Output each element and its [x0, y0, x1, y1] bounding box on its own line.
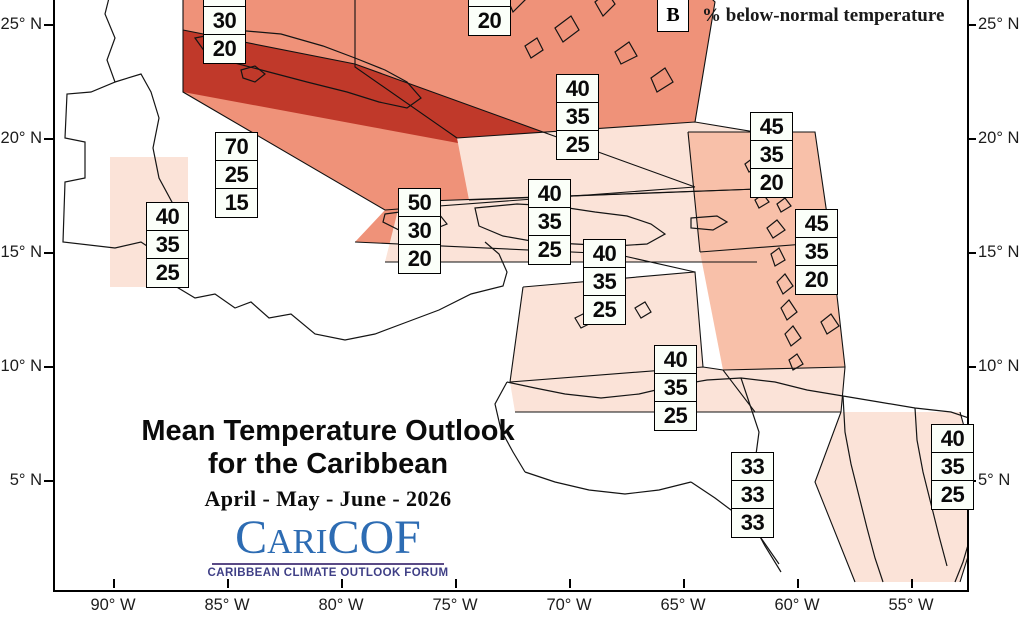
ylabel-right-15n: 15° N	[978, 243, 1019, 262]
ylabel-5n: 5° N	[0, 471, 42, 490]
xlabel-60w: 60° W	[747, 596, 847, 615]
box-belize-yucatan-normal: 35	[147, 231, 188, 259]
map-title-line2: for the Caribbean	[118, 448, 538, 481]
xtick-70w	[569, 579, 571, 588]
box-trinidad-venezuela-below: 33	[732, 509, 773, 537]
box-leeward-islands-normal: 35	[751, 141, 792, 169]
box-bahamas-turks-below: 25	[557, 131, 598, 159]
box-guyana-suriname-normal: 35	[932, 453, 973, 481]
box-southwest-caribbean: 40 35 25	[583, 239, 626, 325]
box-western-cuba-below: 15	[216, 189, 257, 217]
xlabel-90w: 90° W	[63, 596, 163, 615]
box-hispaniola-above: 40	[529, 180, 570, 208]
box-trinidad-venezuela: 33 33 33	[731, 452, 774, 538]
box-northwest-gulf-above: 50	[204, 0, 245, 7]
box-belize-yucatan: 40 35 25	[146, 202, 189, 288]
ylabel-right-5n: 5° N	[978, 471, 1010, 490]
xtick-90w	[113, 579, 115, 588]
box-hispaniola: 40 35 25	[528, 179, 571, 265]
xtick-55w	[911, 579, 913, 588]
xtick-85w	[227, 579, 229, 588]
box-bahamas-turks-normal: 35	[557, 103, 598, 131]
outlook-map-page: 25° N 20° N 15° N 10° N 5° N 25° N 20° N…	[0, 0, 1036, 630]
xtick-65w	[683, 579, 685, 588]
xlabel-55w: 55° W	[861, 596, 961, 615]
ylabel-10n: 10° N	[0, 357, 42, 376]
logo-subtitle: CARIBBEAN CLIMATE OUTLOOK FORUM	[118, 567, 538, 579]
title-block: Mean Temperature Outlook for the Caribbe…	[118, 415, 538, 579]
box-guyana-suriname-below: 25	[932, 481, 973, 509]
box-southwest-caribbean-normal: 35	[584, 268, 625, 296]
ytick-right-10n	[967, 366, 976, 368]
box-windward-islands: 45 35 20	[795, 209, 838, 295]
box-bahamas-turks: 40 35 25	[556, 74, 599, 160]
logo-letters-ari: ARI	[267, 522, 327, 561]
caricof-logo: CARICOF CARIBBEAN CLIMATE OUTLOOK FORUM	[118, 514, 538, 580]
box-leeward-islands-above: 45	[751, 113, 792, 141]
caricof-wordmark: CARICOF	[118, 514, 538, 562]
box-panama-colombia-below: 25	[655, 402, 696, 430]
box-jamaica-cayman-below: 20	[399, 245, 440, 273]
box-guyana-suriname: 40 35 25	[931, 424, 974, 510]
xlabel-80w: 80° W	[291, 596, 391, 615]
xtick-75w	[455, 579, 457, 588]
ytick-15n	[44, 252, 53, 254]
ytick-25n	[44, 24, 53, 26]
ylabel-20n: 20° N	[0, 129, 42, 148]
box-northwest-gulf: 50 30 20	[203, 0, 246, 64]
box-jamaica-cayman-above: 50	[399, 189, 440, 217]
box-hispaniola-below: 25	[529, 236, 570, 264]
xtick-80w	[341, 579, 343, 588]
ylabel-right-20n: 20° N	[978, 129, 1019, 148]
box-northwest-gulf-normal: 30	[204, 7, 245, 35]
box-bahamas-north: 30 20	[468, 0, 511, 36]
ylabel-15n: 15° N	[0, 243, 42, 262]
ytick-5n	[44, 480, 53, 482]
box-guyana-suriname-above: 40	[932, 425, 973, 453]
ytick-right-25n	[967, 24, 976, 26]
legend-key-b: B	[657, 0, 689, 32]
box-leeward-islands: 45 35 20	[750, 112, 793, 198]
ylabel-right-25n: 25° N	[978, 15, 1019, 34]
xlabel-70w: 70° W	[519, 596, 619, 615]
box-windward-islands-normal: 35	[796, 238, 837, 266]
ytick-10n	[44, 366, 53, 368]
box-panama-colombia-normal: 35	[655, 374, 696, 402]
xtick-60w	[797, 579, 799, 588]
logo-letter-c2: C	[327, 511, 359, 564]
box-western-cuba-above: 70	[216, 133, 257, 161]
box-bahamas-turks-above: 40	[557, 75, 598, 103]
ytick-20n	[44, 138, 53, 140]
box-southwest-caribbean-above: 40	[584, 240, 625, 268]
xlabel-65w: 65° W	[633, 596, 733, 615]
map-title-line1: Mean Temperature Outlook	[118, 415, 538, 448]
box-jamaica-cayman: 50 30 20	[398, 188, 441, 274]
box-western-cuba: 70 25 15	[215, 132, 258, 218]
box-belize-yucatan-below: 25	[147, 259, 188, 287]
xlabel-75w: 75° W	[405, 596, 505, 615]
box-trinidad-venezuela-above: 33	[732, 453, 773, 481]
ytick-right-15n	[967, 252, 976, 254]
ylabel-right-10n: 10° N	[978, 357, 1019, 376]
box-northwest-gulf-below: 20	[204, 35, 245, 63]
box-bahamas-north-normal: 20	[469, 7, 510, 35]
box-panama-colombia-above: 40	[655, 346, 696, 374]
box-windward-islands-above: 45	[796, 210, 837, 238]
box-belize-yucatan-above: 40	[147, 203, 188, 231]
box-western-cuba-normal: 25	[216, 161, 257, 189]
box-jamaica-cayman-normal: 30	[399, 217, 440, 245]
box-panama-colombia: 40 35 25	[654, 345, 697, 431]
box-trinidad-venezuela-normal: 33	[732, 481, 773, 509]
logo-letter-c1: C	[235, 511, 267, 564]
box-leeward-islands-below: 20	[751, 169, 792, 197]
logo-letters-of: OF	[359, 511, 420, 564]
box-bahamas-north-above: 30	[469, 0, 510, 7]
forecast-period: April - May - June - 2026	[118, 486, 538, 512]
box-windward-islands-below: 20	[796, 266, 837, 294]
box-southwest-caribbean-below: 25	[584, 296, 625, 324]
map-title: Mean Temperature Outlook for the Caribbe…	[118, 415, 538, 481]
ylabel-25n: 25° N	[0, 15, 42, 34]
ytick-right-20n	[967, 138, 976, 140]
map-legend: N % normal temperature B % below-normal …	[657, 0, 944, 32]
legend-row-below: B % below-normal temperature	[657, 0, 944, 32]
xlabel-85w: 85° W	[177, 596, 277, 615]
legend-text-below: % below-normal temperature	[689, 0, 944, 32]
box-hispaniola-normal: 35	[529, 208, 570, 236]
